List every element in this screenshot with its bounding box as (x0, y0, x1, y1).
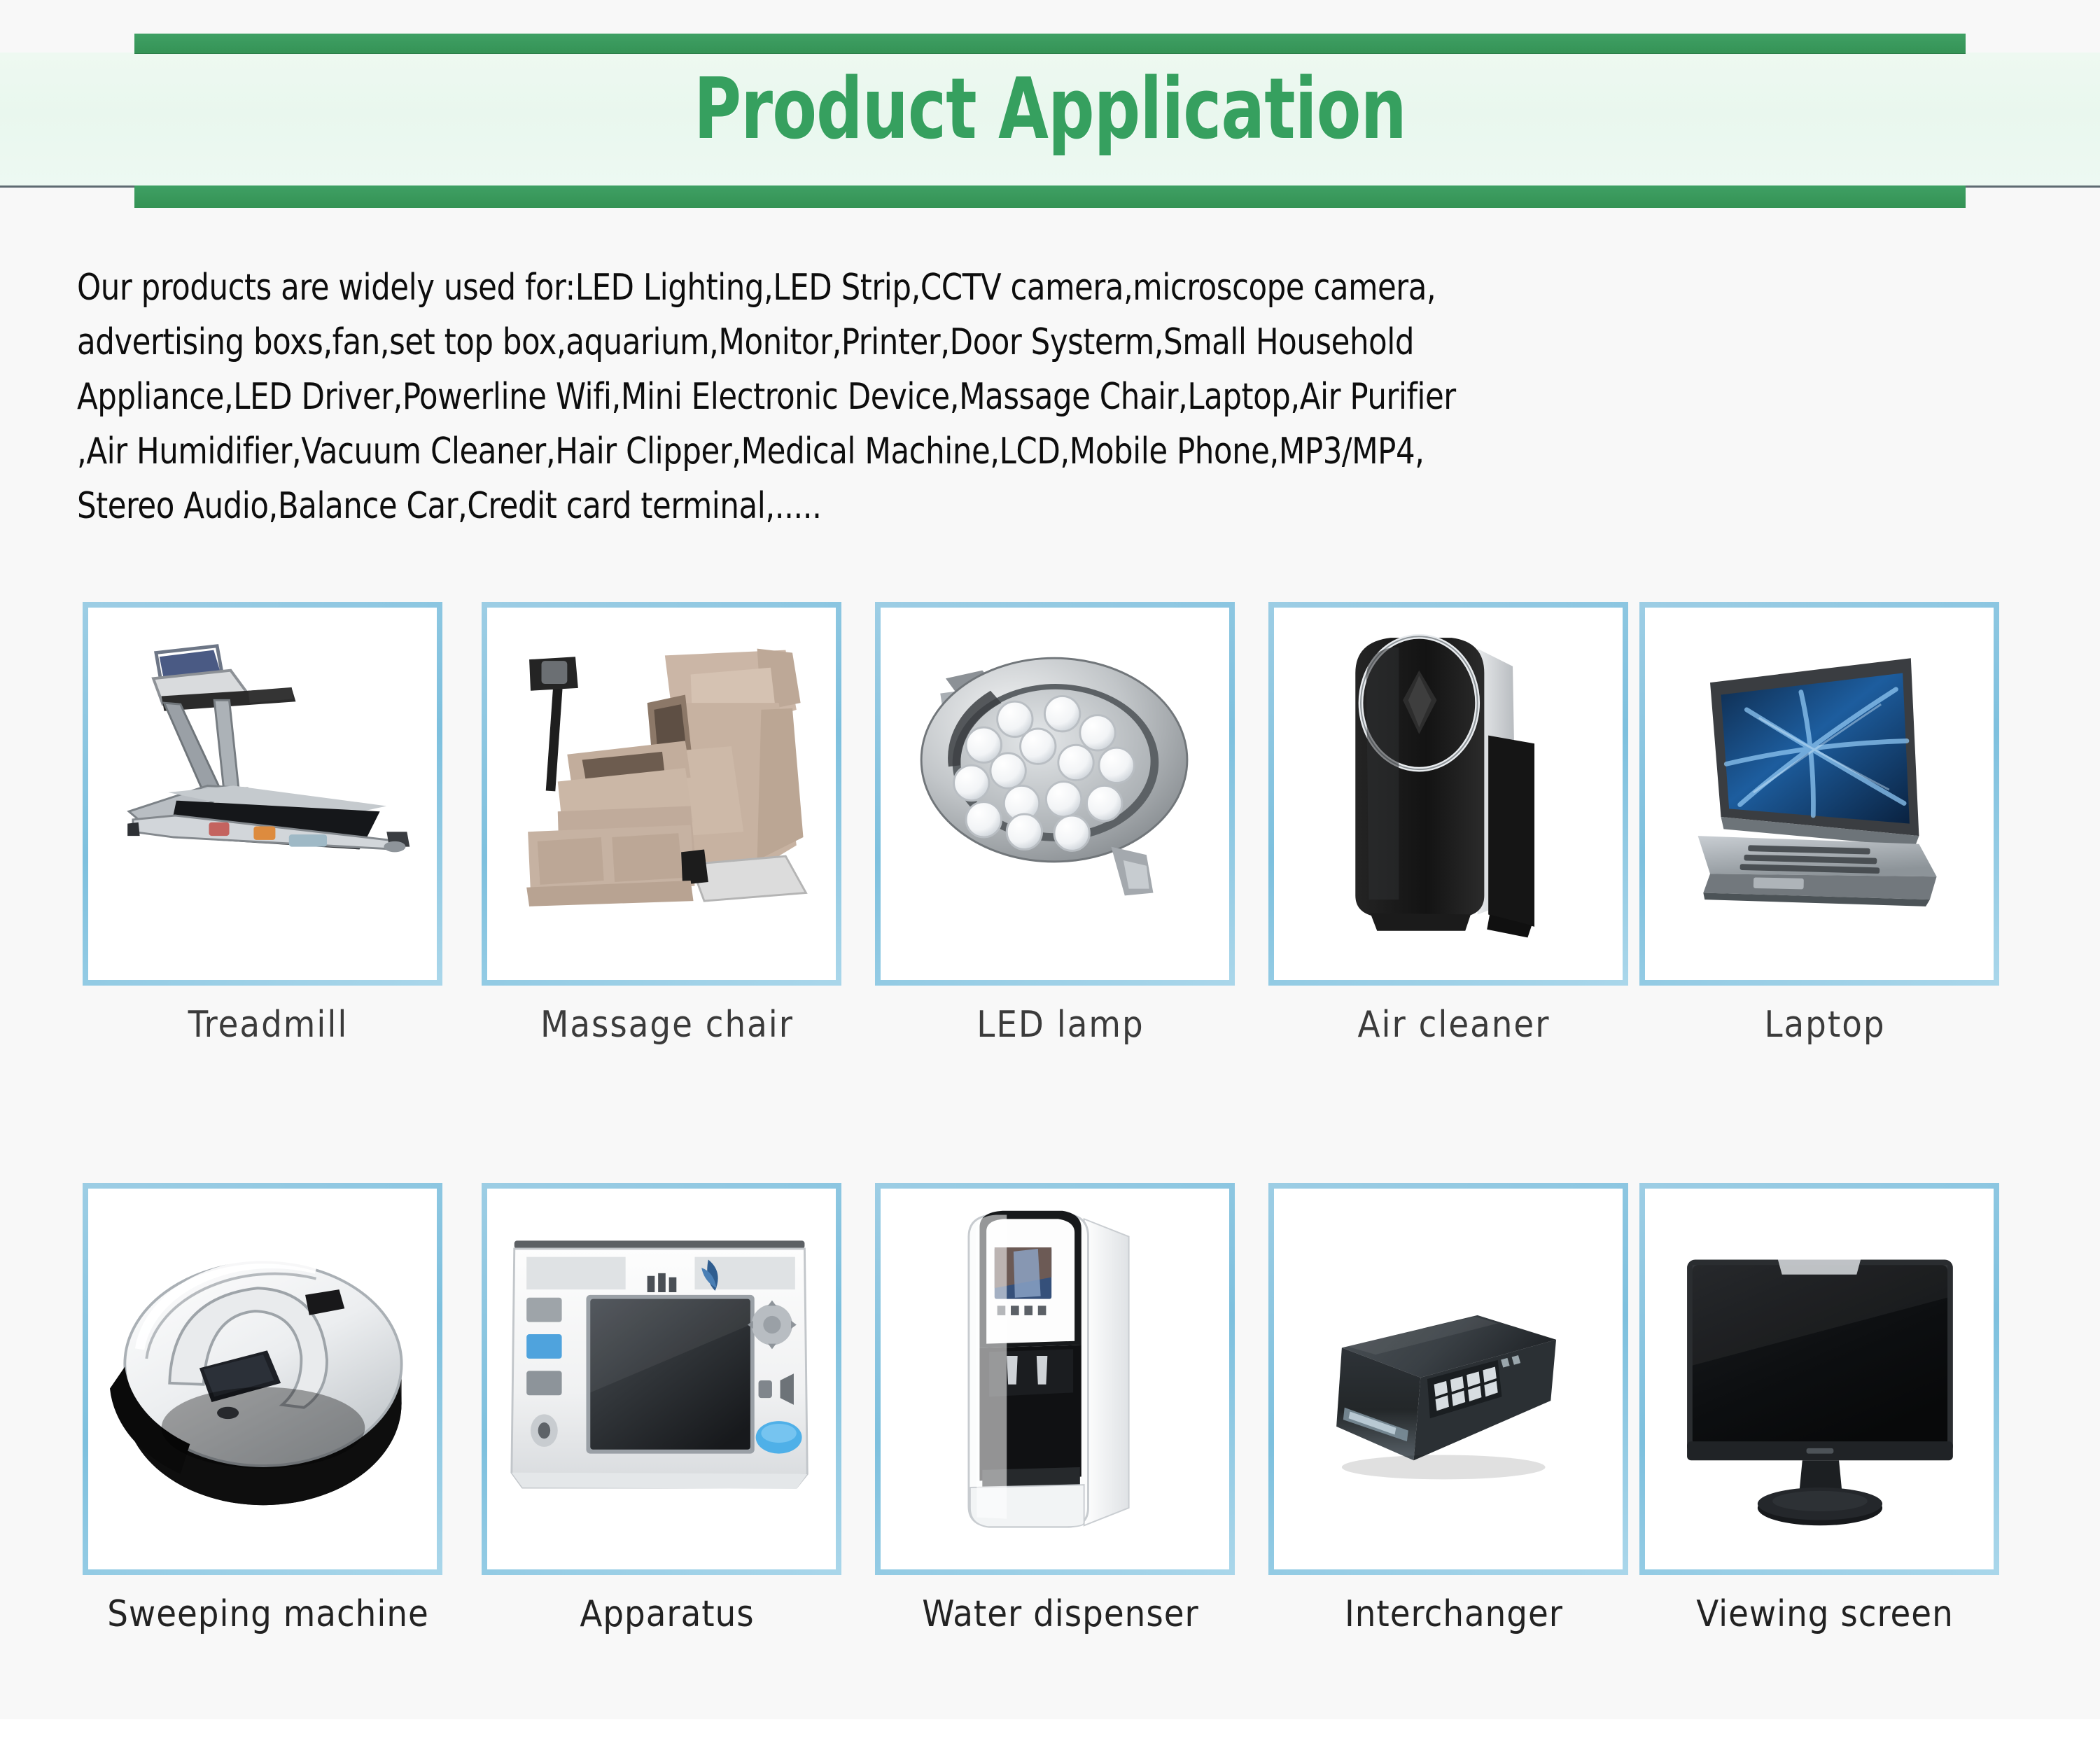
page-header: Product Application (0, 0, 2100, 231)
product-row-2: Sweeping machine (0, 1183, 2100, 1764)
product-grid: Treadmill (0, 602, 2100, 1764)
product-card[interactable] (83, 602, 442, 986)
led-lamp-image (881, 608, 1229, 980)
product-label: Viewing screen (1639, 1593, 2010, 1635)
intro-line: Our products are widely used for:LED Lig… (77, 260, 1919, 315)
monitor-image (1645, 1189, 1994, 1569)
product-cell-led-lamp[interactable]: LED lamp (875, 602, 1246, 1046)
product-card[interactable] (1268, 1183, 1628, 1575)
product-card[interactable] (875, 602, 1235, 986)
product-label: LED lamp (875, 1004, 1246, 1046)
product-label: Treadmill (83, 1004, 454, 1046)
water-dispenser-image (881, 1189, 1229, 1569)
intro-paragraph: Our products are widely used for:LED Lig… (77, 260, 1919, 533)
product-cell-massage-chair[interactable]: Massage chair (482, 602, 853, 1046)
air-cleaner-image (1274, 608, 1623, 980)
header-bar-top (134, 34, 1966, 53)
product-card[interactable] (875, 1183, 1235, 1575)
product-label: Massage chair (482, 1004, 853, 1046)
intro-line: Appliance,LED Driver,Powerline Wifi,Mini… (77, 370, 1919, 424)
product-cell-interchanger[interactable]: Interchanger (1268, 1183, 1639, 1635)
product-label: Water dispenser (875, 1593, 1246, 1635)
product-card[interactable] (482, 602, 841, 986)
product-label: Sweeping machine (83, 1593, 454, 1635)
medical-apparatus-image (487, 1189, 836, 1569)
product-cell-laptop[interactable]: Laptop (1639, 602, 2010, 1046)
product-cell-water-dispenser[interactable]: Water dispenser (875, 1183, 1246, 1635)
product-cell-air-cleaner[interactable]: Air cleaner (1268, 602, 1639, 1046)
product-card[interactable] (1268, 602, 1628, 986)
treadmill-image (88, 608, 437, 980)
robot-vacuum-image (88, 1189, 437, 1569)
product-label: Interchanger (1268, 1593, 1639, 1635)
product-card[interactable] (83, 1183, 442, 1575)
product-label: Air cleaner (1268, 1004, 1639, 1046)
product-cell-viewing-screen[interactable]: Viewing screen (1639, 1183, 2010, 1635)
massage-chair-image (487, 608, 836, 980)
product-card[interactable] (1639, 602, 1999, 986)
product-cell-sweeping-machine[interactable]: Sweeping machine (83, 1183, 454, 1635)
product-card[interactable] (482, 1183, 841, 1575)
network-switch-image (1274, 1189, 1623, 1569)
intro-line: advertising boxs,fan,set top box,aquariu… (77, 315, 1919, 370)
product-cell-treadmill[interactable]: Treadmill (83, 602, 454, 1046)
product-cell-apparatus[interactable]: Apparatus (482, 1183, 853, 1635)
product-label: Laptop (1639, 1004, 2010, 1046)
product-row-1: Treadmill (0, 602, 2100, 1183)
intro-line: ,Air Humidifier,Vacuum Cleaner,Hair Clip… (77, 424, 1919, 479)
header-bar-bottom (134, 185, 1966, 208)
page-title: Product Application (147, 57, 1953, 162)
intro-line: Stereo Audio,Balance Car,Credit card ter… (77, 479, 1919, 533)
product-label: Apparatus (482, 1593, 853, 1635)
product-card[interactable] (1639, 1183, 1999, 1575)
laptop-image (1645, 608, 1994, 980)
